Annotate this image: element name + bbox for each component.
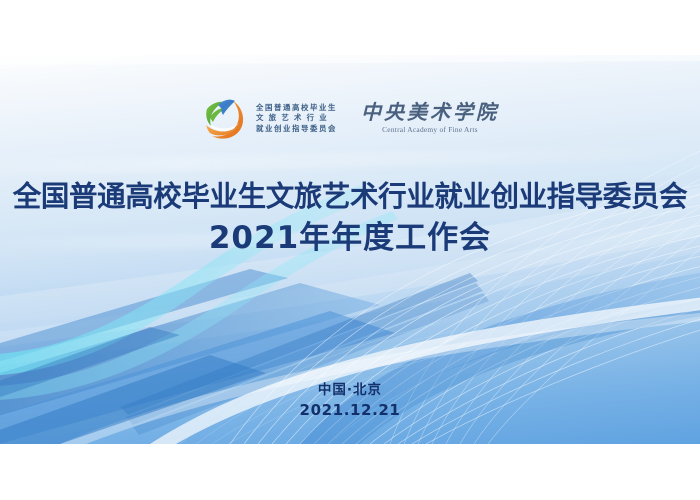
title-block: 全国普通高校毕业生文旅艺术行业就业创业指导委员会 2021年年度工作会: [0, 177, 700, 259]
footer-block: 中国·北京 2021.12.21: [0, 381, 700, 420]
committee-name-text: 全国普通高校毕业生 文 旅 艺 术 行 业 就业创业指导委员会: [256, 104, 337, 133]
committee-emblem-group: 全国普通高校毕业生 文 旅 艺 术 行 业 就业创业指导委员会: [201, 95, 337, 141]
event-date: 2021.12.21: [0, 400, 700, 420]
event-location: 中国·北京: [0, 381, 700, 400]
cafa-name-en: Central Academy of Fine Arts: [382, 125, 478, 134]
cafa-logo: 中央美术学院 Central Academy of Fine Arts: [361, 101, 499, 134]
page-title-line-2: 2021年年度工作会: [0, 217, 700, 259]
cafa-name-cn: 中央美术学院: [361, 101, 499, 123]
conference-banner: 全国普通高校毕业生 文 旅 艺 术 行 业 就业创业指导委员会 中央美术学院 C…: [0, 55, 700, 444]
logo-row: 全国普通高校毕业生 文 旅 艺 术 行 业 就业创业指导委员会 中央美术学院 C…: [0, 88, 700, 148]
globe-ribbon-emblem-icon: [201, 95, 247, 141]
poster-canvas: 全国普通高校毕业生 文 旅 艺 术 行 业 就业创业指导委员会 中央美术学院 C…: [0, 0, 700, 500]
emblem-line-2: 文 旅 艺 术 行 业: [256, 114, 337, 122]
page-title-line-1: 全国普通高校毕业生文旅艺术行业就业创业指导委员会: [0, 177, 700, 217]
emblem-line-3: 就业创业指导委员会: [256, 125, 337, 133]
emblem-line-1: 全国普通高校毕业生: [256, 104, 337, 112]
